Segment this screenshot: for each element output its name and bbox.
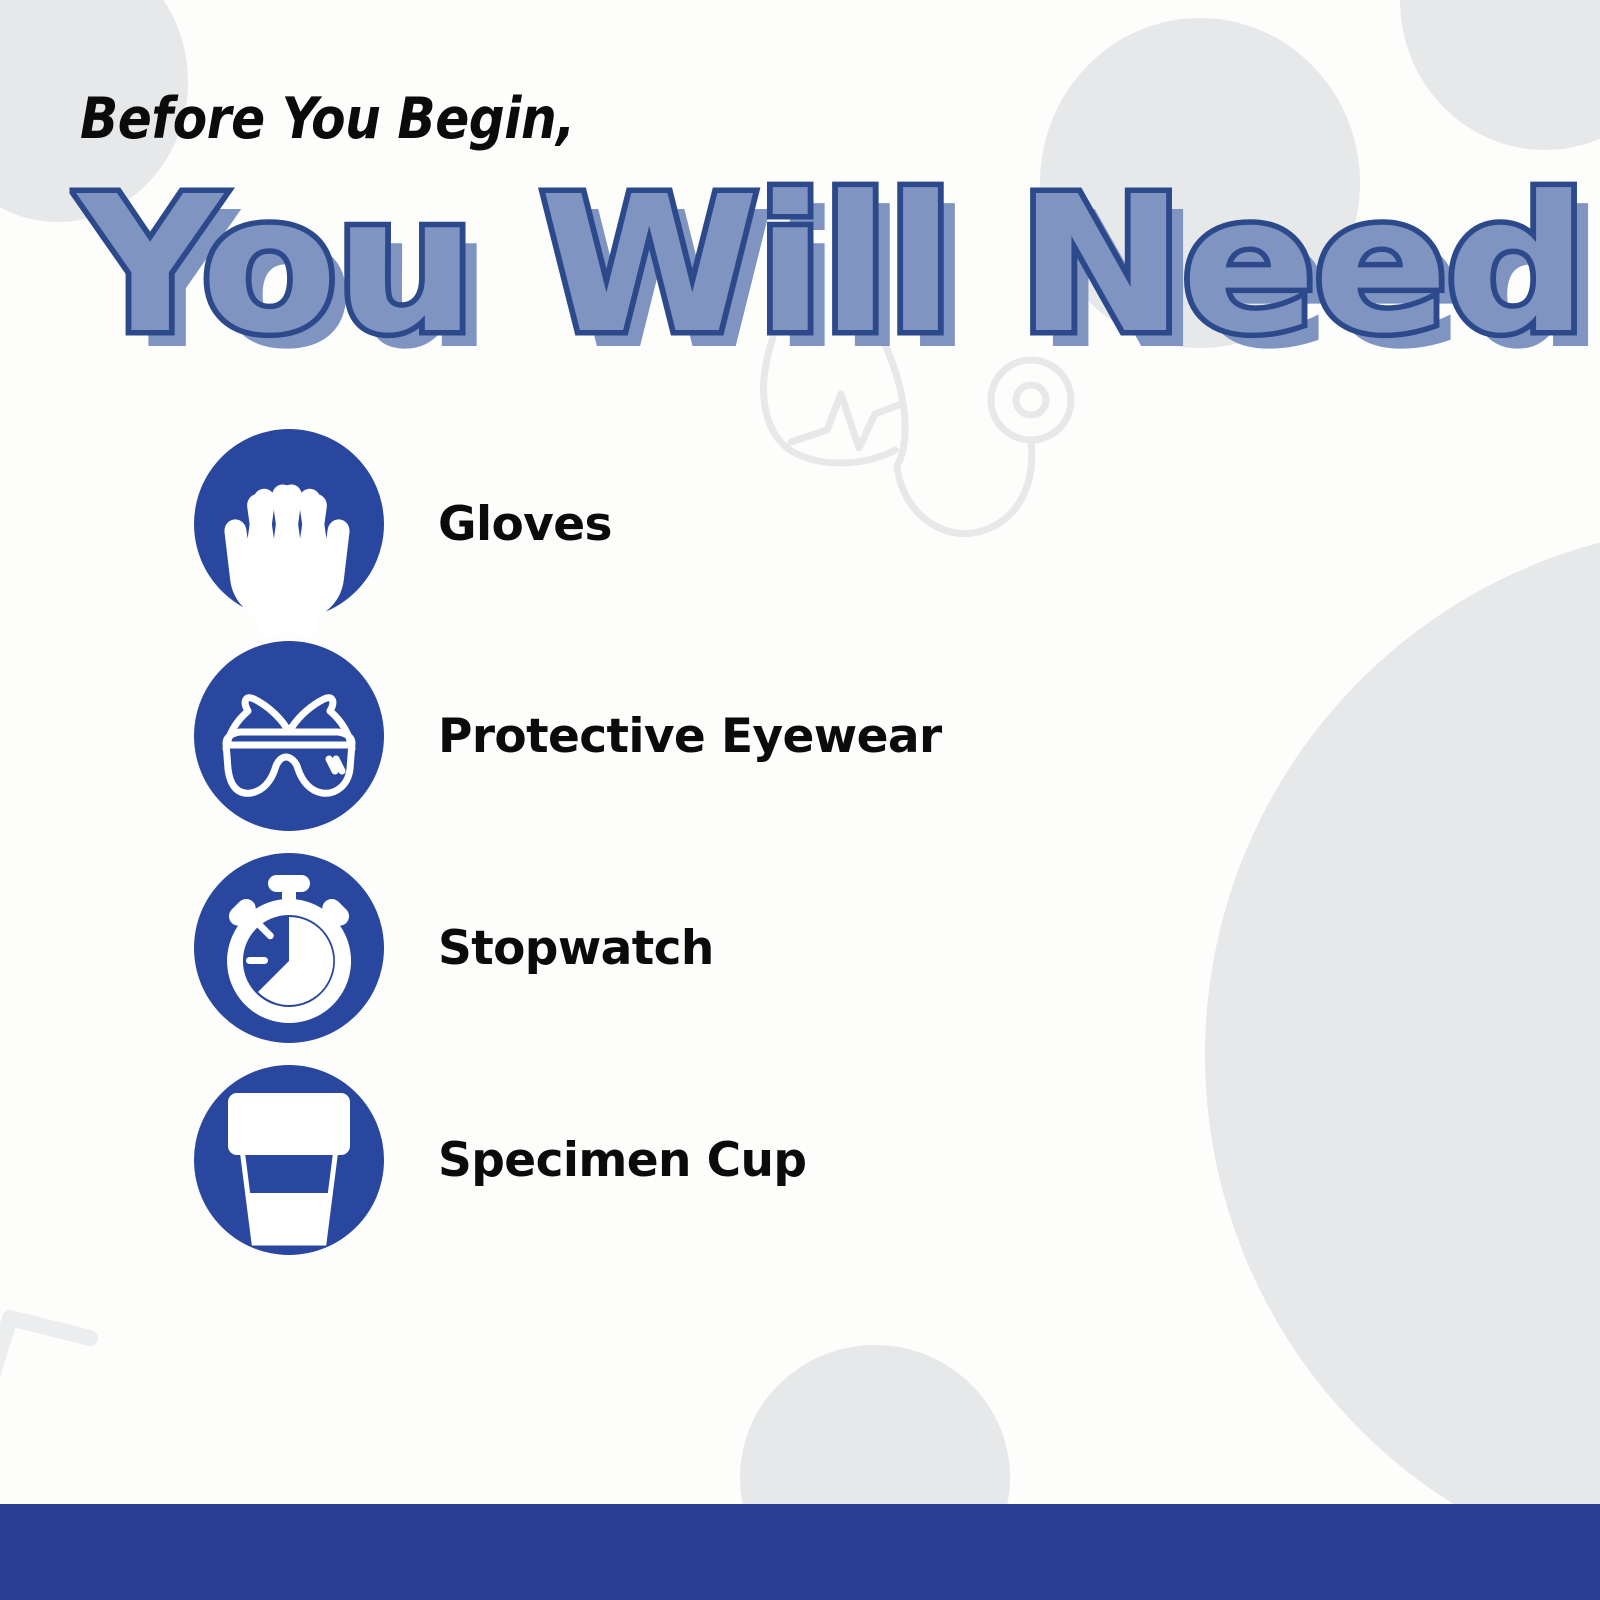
page-title-fill-layer: You Will Need: [78,166,1600,366]
decorative-circle-top-right [1400,0,1600,150]
list-item-label: Protective Eyewear [438,709,942,764]
list-item[interactable]: Gloves [186,418,1386,630]
supplies-list: Gloves [186,418,1386,1266]
specimen-cup-icon [186,1057,392,1263]
list-item[interactable]: Specimen Cup [186,1054,1386,1266]
list-item[interactable]: Protective Eyewear [186,630,1386,842]
heartbeat-line-watermark-icon [0,1130,202,1430]
stopwatch-icon [186,845,392,1051]
safety-goggles-icon [186,633,392,839]
footer-bar [0,1504,1600,1600]
list-item[interactable]: Stopwatch [186,842,1386,1054]
list-item-label: Stopwatch [438,921,714,976]
gloves-icon [186,421,392,627]
list-item-label: Specimen Cup [438,1133,806,1188]
page-title: You Will Need: You Will Need: You Will N… [78,166,1558,376]
list-item-label: Gloves [438,497,612,552]
infographic-canvas: Before You Begin, You Will Need: You Wil… [0,0,1600,1600]
eyebrow-text: Before You Begin, [80,86,575,152]
